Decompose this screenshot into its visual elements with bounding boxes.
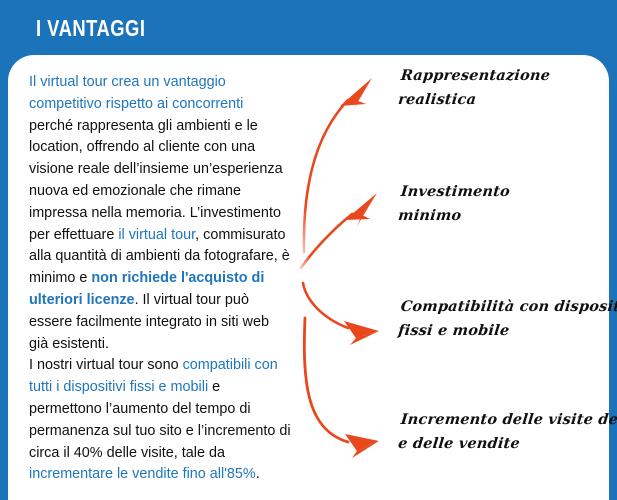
body-run: . xyxy=(256,466,260,482)
benefit-line: minimo xyxy=(397,204,509,228)
benefit-line: Rappresentazione xyxy=(399,64,551,88)
benefit-line: Compatibilità con dispositivi xyxy=(399,295,617,319)
benefit-line: fissi e mobile xyxy=(397,319,617,343)
benefit-label-rappresentazione-realistica: Rappresentazione realistica xyxy=(397,64,551,112)
benefit-line: e delle vendite xyxy=(397,432,617,456)
benefit-line: Incremento delle visite del sito xyxy=(399,408,617,432)
body-run: incrementare le vendite fino all'85% xyxy=(29,466,256,482)
body-paragraph: I nostri virtual tour sono compatibili c… xyxy=(29,355,291,486)
benefit-line: Investimento xyxy=(399,180,511,204)
benefit-label-investimento-minimo: Investimento minimo xyxy=(397,180,511,228)
body-run: Il virtual tour crea un vantaggio compet… xyxy=(29,74,243,112)
body-run: I nostri virtual tour sono xyxy=(29,357,183,373)
body-run: il virtual tour xyxy=(118,227,195,243)
slide-root: I VANTAGGI Il virtual tour crea un vanta… xyxy=(0,0,617,500)
body-paragraph: Il virtual tour crea un vantaggio compet… xyxy=(29,72,291,355)
benefit-line: realistica xyxy=(397,88,549,112)
body-run: perché rappresenta gli ambienti e le loc… xyxy=(29,118,283,243)
body-text-column: Il virtual tour crea un vantaggio compet… xyxy=(29,72,291,486)
page-title: I VANTAGGI xyxy=(36,15,145,41)
benefit-label-compatibilita-dispositivi: Compatibilità con dispositivi fissi e mo… xyxy=(397,295,617,343)
slide-header: I VANTAGGI xyxy=(0,0,617,58)
benefit-label-incremento-visite-vendite: Incremento delle visite del sito e delle… xyxy=(397,408,617,456)
